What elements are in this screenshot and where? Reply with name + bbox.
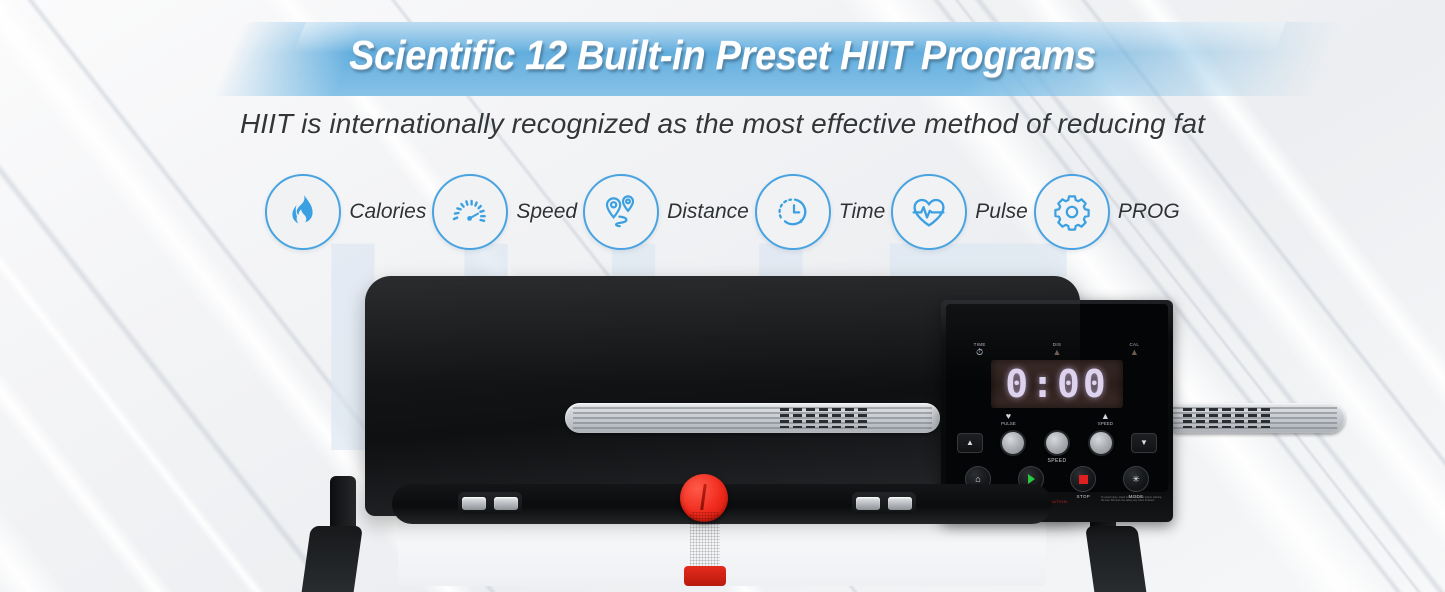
speedometer-icon xyxy=(432,174,508,250)
handlebar-controls-left[interactable] xyxy=(458,492,522,514)
handlebar-button-3[interactable] xyxy=(856,497,880,510)
mid-readout-labels: ♥ PULSE ▲ SPEED xyxy=(941,412,1173,426)
asterisk-icon: ✳ xyxy=(1132,475,1140,484)
speaker-grill-right xyxy=(1183,408,1271,428)
top-readout-labels: TIME ⏱ DIS ▲ CAL ▲ xyxy=(941,342,1173,357)
readout-distance: DIS ▲ xyxy=(1032,342,1082,357)
foot-right xyxy=(1085,526,1147,592)
feature-icon-row: Calories xyxy=(0,174,1445,250)
flame-icon xyxy=(265,174,341,250)
promo-banner-stage: HIIT Scientific 12 Built-in Preset HIIT … xyxy=(0,0,1445,592)
safety-key-clip xyxy=(684,566,726,586)
readout-calories: CAL ▲ xyxy=(1109,342,1159,357)
display-value: 0:00 xyxy=(1005,365,1109,403)
handlebar-controls-right[interactable] xyxy=(852,492,916,514)
play-icon xyxy=(1028,474,1035,484)
feature-label: Distance xyxy=(667,200,749,224)
clock-icon xyxy=(755,174,831,250)
heart-icon: ♥ xyxy=(1001,412,1016,421)
speed-tag-label: SPEED xyxy=(941,458,1173,464)
stop-button[interactable]: STOP xyxy=(1070,466,1096,499)
stop-icon xyxy=(1079,475,1088,484)
readout-time: TIME ⏱ xyxy=(955,342,1005,357)
speed-down-button[interactable]: ▼ xyxy=(1131,433,1157,453)
readout-speed: ▲ SPEED xyxy=(1098,412,1113,426)
quick-key-1[interactable] xyxy=(1000,430,1026,456)
feature-label: PROG xyxy=(1118,200,1180,224)
feature-label: Speed xyxy=(516,200,577,224)
heart-pulse-icon xyxy=(891,174,967,250)
feature-label: Time xyxy=(839,200,885,224)
fineprint-right: To avoid injury, stand on the side rails… xyxy=(1101,496,1163,503)
speed-glyph-icon: ▲ xyxy=(1098,412,1113,421)
handlebar-button-1[interactable] xyxy=(462,497,486,510)
treadmill-product-photo: TIME ⏱ DIS ▲ CAL ▲ 0:00 xyxy=(0,258,1445,592)
stopwatch-icon: ⏱ xyxy=(955,347,1005,357)
readout-pulse: ♥ PULSE xyxy=(1001,412,1016,426)
led-display: 0:00 xyxy=(991,360,1123,408)
handrail-pad-left xyxy=(565,403,940,433)
feature-prog[interactable]: PROG xyxy=(1034,174,1180,250)
speaker-grill-left xyxy=(780,408,868,428)
safety-key-assembly[interactable] xyxy=(672,474,736,586)
page-title: Scientific 12 Built-in Preset HIIT Progr… xyxy=(51,32,1395,79)
calorie-glyph-icon: ▲ xyxy=(1109,347,1159,357)
feature-distance[interactable]: Distance xyxy=(583,174,749,250)
handlebar-button-2[interactable] xyxy=(494,497,518,510)
feature-calories[interactable]: Calories xyxy=(265,174,426,250)
speed-adjust-row: ▲ ▼ xyxy=(957,430,1157,456)
home-icon: ⌂ xyxy=(975,475,980,484)
map-pins-icon xyxy=(583,174,659,250)
feature-pulse[interactable]: Pulse xyxy=(891,174,1028,250)
feature-speed[interactable]: Speed xyxy=(432,174,577,250)
feature-label: Pulse xyxy=(975,200,1028,224)
quick-key-3[interactable] xyxy=(1088,430,1114,456)
foot-left xyxy=(301,526,363,592)
handrail-pad-right xyxy=(1165,403,1345,433)
page-subtitle: HIIT is internationally recognized as th… xyxy=(0,108,1445,140)
quick-key-2[interactable] xyxy=(1044,430,1070,456)
feature-label: Calories xyxy=(349,200,426,224)
speed-up-button[interactable]: ▲ xyxy=(957,433,983,453)
mode-button[interactable]: ✳ MODE xyxy=(1123,466,1149,499)
gear-icon xyxy=(1034,174,1110,250)
distance-glyph-icon: ▲ xyxy=(1032,347,1082,357)
handlebar-button-4[interactable] xyxy=(888,497,912,510)
feature-time[interactable]: Time xyxy=(755,174,885,250)
